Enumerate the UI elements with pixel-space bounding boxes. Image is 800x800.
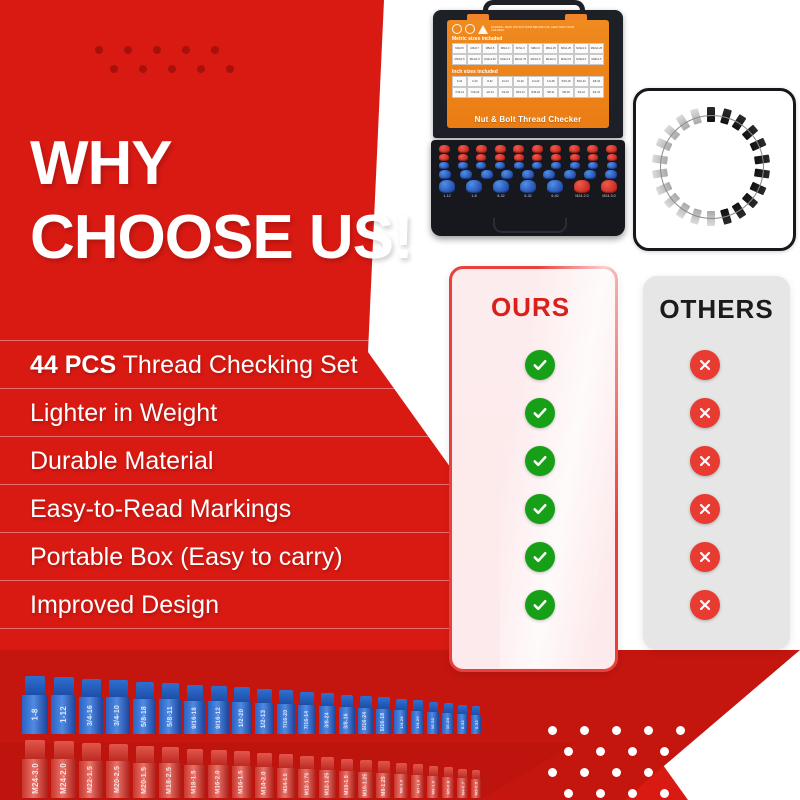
gauge-thread-cap <box>396 763 407 774</box>
gauge-body: 9/16-12 <box>208 701 229 734</box>
thread-gauge-pin <box>458 162 468 169</box>
gauge-body: 5/8-11 <box>159 699 181 734</box>
size-table-cell: 9/16-18 <box>528 87 543 98</box>
gauge-size-label: 5/8-11 <box>166 706 173 727</box>
size-table-row: M3x0.5M4x0.7M5x0.8M6x1.0M7x1.0M8x1.0M8x1… <box>452 43 604 54</box>
gauge-size-label: M7-1.0 <box>415 780 420 794</box>
gauge-size-label: M14-2.0 <box>262 771 268 794</box>
gauge-item: M18-1.5 <box>184 749 205 798</box>
gauge-item: 1/2-13 <box>255 689 274 734</box>
gauge-size-label: M16-2.0 <box>216 770 222 793</box>
decorative-dot <box>153 46 161 54</box>
gauge-body: 7/16-20 <box>277 704 295 734</box>
case-label: WARNING: READ INSTRUCTIONS BEFORE USE. K… <box>447 20 609 128</box>
feature-label: Lighter in Weight <box>0 399 460 427</box>
gauge-body: 3/8-16 <box>339 707 355 734</box>
gauge-body: M10-1.5 <box>339 771 355 798</box>
thread-gauge-pin <box>532 162 542 169</box>
size-table-cell: M12x1.75 <box>513 54 528 65</box>
gauge-thread-cap <box>321 757 334 770</box>
gauge-body: M20-2.5 <box>106 761 130 798</box>
gauge-body: 1-8 <box>22 695 48 734</box>
size-table-cell: 6-32 <box>452 76 467 87</box>
gauge-item: M16-1.5 <box>232 751 252 798</box>
thread-gauge-pin <box>607 154 617 161</box>
size-table-cell: 3/4-10 <box>574 87 589 98</box>
gauge-size-label: 1/2-20 <box>239 709 245 727</box>
gauge-lineup-strip: 1-81-123/4-163/4-105/8-185/8-119/16-189/… <box>0 660 800 800</box>
gauge-size-label: 7/16-14 <box>304 710 310 728</box>
thread-gauge-pin <box>458 145 469 153</box>
gauge-body: 10-24 <box>442 713 454 734</box>
gauge-thread-cap <box>458 705 467 714</box>
size-table-cell: M8x1.25 <box>543 43 558 54</box>
gauge-thread-cap <box>187 749 203 765</box>
gauge-size-label: M8-1.25 <box>381 776 387 796</box>
gauge-size-label: 7/16-20 <box>283 710 289 728</box>
size-table-cell: 5/16-24 <box>574 76 589 87</box>
gauge-thread-cap <box>162 683 179 699</box>
gauge-item: 5/16-24 <box>358 696 373 734</box>
thread-gauge-pin <box>532 145 543 153</box>
gauge-body: 9/16-18 <box>184 701 205 734</box>
headline-line-2: CHOOSE US! <box>30 207 460 269</box>
gauge-body: 7/16-14 <box>298 705 316 734</box>
gauge-size-label: 10-24 <box>445 718 450 729</box>
size-table-cell: 5/16-18 <box>558 76 573 87</box>
gauge-thread-cap <box>429 702 438 712</box>
check-circle-icon <box>525 494 555 524</box>
thread-gauge-pin <box>587 145 598 153</box>
size-table-cell: 5/8-11 <box>543 87 558 98</box>
size-table-cell: 9/16-12 <box>513 87 528 98</box>
gauge-size-label: 5/16-24 <box>363 712 369 730</box>
gauge-size-label: 1/2-13 <box>262 709 268 727</box>
gauge-pin-label: 6-40 <box>547 194 563 198</box>
gauge-tray-row <box>439 170 617 179</box>
gauge-thread-cap <box>257 753 272 767</box>
thread-gauge-pin <box>513 145 524 153</box>
gauge-size-label: M20-2.5 <box>115 766 122 793</box>
ours-cell <box>480 494 600 524</box>
gauge-item: M7-1.0 <box>411 764 424 798</box>
gauge-size-label: M3-0.5 <box>474 782 479 796</box>
gauge-thread-cap <box>458 769 467 778</box>
thread-gauge-pin <box>476 162 486 169</box>
others-cell <box>640 446 770 476</box>
gauge-item: M16-2.0 <box>208 750 229 798</box>
check-circle-icon <box>525 542 555 572</box>
others-column-header: OTHERS <box>643 294 790 325</box>
size-table-row: 6-326-408-3210-2410-321/4-201/4-285/16-1… <box>452 76 604 87</box>
gauge-item: M10-1.5 <box>339 759 355 798</box>
thread-gauge-pin <box>514 162 524 169</box>
feature-label: Easy-to-Read Markings <box>0 495 460 523</box>
ours-cell <box>480 542 600 572</box>
thread-gauge-pin: 6-32 <box>520 180 536 198</box>
decorative-dot <box>110 65 118 73</box>
thread-gauge-pin: 6-40 <box>547 180 563 198</box>
metric-table-title: Metric sizes included <box>452 36 502 42</box>
gauge-body: M20-1.5 <box>133 763 156 798</box>
gauge-body: M14-2.0 <box>255 767 274 798</box>
ours-column-header: OURS <box>449 292 612 323</box>
gauge-thread-cap <box>444 767 453 777</box>
gauge-thread-cap <box>360 696 372 708</box>
ours-cell <box>480 590 600 620</box>
gauge-thread-cap <box>396 699 407 710</box>
gauge-tray-row <box>439 162 617 169</box>
inch-sizes-table: 6-326-408-3210-2410-321/4-201/4-285/16-1… <box>452 76 604 98</box>
gauge-body: M12-1.75 <box>298 769 316 798</box>
gauge-item: M22-1.5 <box>79 743 103 798</box>
thread-gauge-pin <box>532 154 542 161</box>
gauge-size-label: M24-3.0 <box>31 763 40 794</box>
gauge-size-label: M18-2.5 <box>167 767 174 794</box>
size-table-cell: M10x1.25 <box>589 43 604 54</box>
thread-gauge-pin <box>495 145 506 153</box>
gauge-item: 6-32 <box>471 706 481 734</box>
thread-gauge-pin <box>550 145 561 153</box>
gauge-thread-cap <box>109 680 128 697</box>
gauge-item: M12-1.25 <box>319 757 336 798</box>
gauge-body: M16-1.5 <box>232 766 252 798</box>
gauge-body: 8-32 <box>457 714 468 734</box>
thread-gauge-pin <box>564 170 576 179</box>
gauge-thread-cap <box>300 756 314 769</box>
gauge-item: M10-1.25 <box>358 760 373 798</box>
gauge-body: M24-2.0 <box>51 759 76 798</box>
thread-gauge-pin <box>551 154 561 161</box>
gauge-size-label: M10-1.5 <box>344 775 350 795</box>
gauge-thread-cap <box>234 687 250 702</box>
gauge-item: M6-1.0 <box>427 766 439 798</box>
gauge-body: 1-12 <box>51 695 76 734</box>
gauge-item: M20-2.5 <box>106 744 130 798</box>
gauge-thread-cap <box>211 750 227 765</box>
gauge-tray-row <box>439 154 617 161</box>
size-table-row: 7/16-147/16-201/2-131/2-209/16-129/16-18… <box>452 87 604 98</box>
thread-gauge-pin <box>458 154 468 161</box>
gauge-thread-cap <box>54 741 74 759</box>
case-lid: WARNING: READ INSTRUCTIONS BEFORE USE. K… <box>433 10 623 138</box>
gauge-body: 3/4-16 <box>79 697 103 734</box>
gauge-item: 1-12 <box>51 677 76 734</box>
gauge-size-label: 3/8-24 <box>324 712 330 727</box>
gauge-thread-cap <box>429 766 438 776</box>
size-table-cell: 1/4-20 <box>528 76 543 87</box>
cross-circle-icon <box>690 542 720 572</box>
gauge-body: M14-1.5 <box>277 768 295 798</box>
gauge-item: 8-32 <box>457 705 468 734</box>
thread-gauge-pin <box>514 154 524 161</box>
gauge-pin-label: 6-32 <box>520 194 536 198</box>
gauge-thread-cap <box>472 770 480 779</box>
gauge-thread-cap <box>378 761 390 773</box>
cross-circle-icon <box>690 494 720 524</box>
size-table-cell: M10x1.0 <box>574 43 589 54</box>
gauge-body: 5/16-24 <box>358 708 373 734</box>
gauge-item: M14-2.0 <box>255 753 274 798</box>
gauge-size-label: M18-1.5 <box>192 770 198 793</box>
gauge-size-label: M6-1.0 <box>431 780 436 794</box>
gauge-size-label: M20-1.5 <box>141 767 148 794</box>
thread-gauge-pin <box>481 170 493 179</box>
size-table-cell: M16x1.5 <box>558 54 573 65</box>
decorative-dot <box>139 65 147 73</box>
decorative-dot <box>182 46 190 54</box>
decorative-dot <box>124 46 132 54</box>
thread-gauge-pin <box>476 145 487 153</box>
size-table-cell: M5x0.8 <box>482 43 497 54</box>
size-table-cell: M8x1.0 <box>528 43 543 54</box>
thread-gauge-pin <box>439 145 450 153</box>
product-case-photo: WARNING: READ INSTRUCTIONS BEFORE USE. K… <box>425 2 632 242</box>
size-table-cell: M16x2.0 <box>574 54 589 65</box>
gauge-thread-cap <box>136 682 154 699</box>
gauge-size-label: M10-1.25 <box>363 774 369 797</box>
gauge-item: M4-0.7 <box>457 769 468 798</box>
size-table-cell: M7x1.0 <box>513 43 528 54</box>
gauge-body: M18-2.5 <box>159 763 181 798</box>
gauge-tray-row <box>439 145 617 153</box>
gauge-body: 1/4-20 <box>411 711 424 734</box>
thread-gauge-pin: 8-32 <box>493 180 509 198</box>
others-cell <box>640 542 770 572</box>
gauge-body: M8-1.25 <box>376 773 391 798</box>
gauge-size-label: 3/4-16 <box>88 705 95 726</box>
gauge-body: 1/4-28 <box>394 710 408 734</box>
gauge-body: 3/4-10 <box>106 697 130 734</box>
case-brand-text: Nut & Bolt Thread Checker <box>447 115 609 124</box>
size-table-cell: M4x0.7 <box>467 43 482 54</box>
gauge-item: 5/16-18 <box>376 697 391 734</box>
gauge-item: M8-1.0 <box>394 763 408 798</box>
size-table-row: M10x1.5M11x1.5M12x1.25M12x1.5M12x1.75M14… <box>452 54 604 65</box>
red-gauge-row: M24-3.0M24-2.0M22-1.5M20-2.5M20-1.5M18-2… <box>22 740 484 798</box>
gauge-pin-label: M24-3.0 <box>601 194 617 198</box>
check-circle-icon <box>525 350 555 380</box>
metric-sizes-table: M3x0.5M4x0.7M5x0.8M6x1.0M7x1.0M8x1.0M8x1… <box>452 43 604 65</box>
gauge-thread-cap <box>82 679 101 697</box>
check-circle-icon <box>525 398 555 428</box>
thread-gauge-pin <box>588 154 598 161</box>
infographic-canvas: WHY CHOOSE US! OURS OTHERS 44 PCS Thread… <box>0 0 800 800</box>
gauge-thread-cap <box>109 744 128 761</box>
size-table-cell: 3/4-16 <box>589 87 604 98</box>
thread-gauge-pin: 1-12 <box>439 180 455 198</box>
size-table-cell: M12x1.5 <box>498 54 513 65</box>
ours-cell <box>480 398 600 428</box>
gauge-size-label: 1-8 <box>30 708 39 720</box>
thread-gauge-pin <box>439 170 451 179</box>
thread-gauge-pin <box>543 170 555 179</box>
gauge-item: M5-0.8 <box>442 767 454 798</box>
gauge-body: 3/8-24 <box>319 706 336 734</box>
gauge-body: M16-2.0 <box>208 765 229 798</box>
size-table-cell: M12x1.25 <box>482 54 497 65</box>
thread-gauge-pin <box>495 162 505 169</box>
gauge-size-label: 9/16-18 <box>192 707 198 729</box>
headline-line-1: WHY <box>30 129 172 198</box>
gauge-size-label: 1/4-20 <box>415 716 420 729</box>
thread-gauge-pin <box>588 162 598 169</box>
thread-gauge-pin: 1-8 <box>466 180 482 198</box>
gauge-item: M8-1.25 <box>376 761 391 798</box>
decorative-dot <box>95 46 103 54</box>
gauge-size-label: 3/8-16 <box>344 713 350 728</box>
gauge-body: M10-1.25 <box>358 772 373 798</box>
gauge-thread-cap <box>211 686 227 701</box>
size-table-cell: M9x1.25 <box>558 43 573 54</box>
size-table-cell: M3x0.5 <box>452 43 467 54</box>
feature-label: Portable Box (Easy to carry) <box>0 543 460 571</box>
decorative-dot <box>197 65 205 73</box>
size-table-cell: M14x1.5 <box>528 54 543 65</box>
blue-gauge-row: 1-81-123/4-163/4-105/8-185/8-119/16-189/… <box>22 676 484 734</box>
label-warning-text: WARNING: READ INSTRUCTIONS BEFORE USE. K… <box>491 26 586 32</box>
gauge-item: M12-1.75 <box>298 756 316 798</box>
gauge-size-label: M4-0.7 <box>460 781 465 795</box>
gauge-size-label: M12-1.25 <box>325 773 331 796</box>
gauge-pin-label: M24-2.0 <box>574 194 590 198</box>
gauge-body: M24-3.0 <box>22 759 48 798</box>
size-table-cell: 1/2-20 <box>498 87 513 98</box>
gauge-pin-label: 8-32 <box>493 194 509 198</box>
size-table-cell: 6-40 <box>467 76 482 87</box>
gauge-thread-cap <box>444 703 453 713</box>
gauge-item: M24-2.0 <box>51 741 76 798</box>
gauge-body: M6-1.0 <box>427 776 439 798</box>
thread-gauge-pin <box>607 162 617 169</box>
size-table-cell: 7/16-20 <box>467 87 482 98</box>
decorative-dot <box>168 65 176 73</box>
thread-gauge-pin <box>522 170 534 179</box>
gauge-item: 3/8-16 <box>339 695 355 734</box>
gauge-body: 5/16-18 <box>376 709 391 734</box>
gauge-body: M12-1.25 <box>319 770 336 798</box>
gauge-item: 10-24 <box>442 703 454 734</box>
gauge-item: M14-1.5 <box>277 754 295 798</box>
gauge-item: 7/16-20 <box>277 690 295 734</box>
gauge-thread-cap <box>234 751 250 766</box>
gauge-size-label: M22-1.5 <box>88 766 95 793</box>
gauge-item: 9/16-12 <box>208 686 229 734</box>
gauge-size-label: 3/4-10 <box>115 705 122 726</box>
gauge-body: 1/2-13 <box>255 703 274 734</box>
feature-label: 44 PCS Thread Checking Set <box>0 351 460 379</box>
size-table-cell: M10x1.5 <box>452 54 467 65</box>
thread-gauge-pin <box>570 154 580 161</box>
ours-cell <box>480 350 600 380</box>
gauge-size-label: M8-1.0 <box>399 779 404 793</box>
gauge-thread-cap <box>472 706 480 715</box>
case-base: 1-121-88-326-326-40M24-2.0M24-3.0 <box>431 140 625 236</box>
gauge-tray: 1-121-88-326-326-40M24-2.0M24-3.0 <box>439 145 617 199</box>
gauge-size-label: 5/8-18 <box>141 706 148 727</box>
gauge-body: 6-32 <box>471 715 481 734</box>
gauge-size-label: M24-2.0 <box>59 763 68 794</box>
gauge-thread-cap <box>341 759 353 771</box>
thread-gauge-pin <box>439 162 449 169</box>
others-cell <box>640 494 770 524</box>
gauge-thread-cap <box>321 693 334 706</box>
size-table-cell: 1/2-13 <box>482 87 497 98</box>
cross-circle-icon <box>690 350 720 380</box>
gauge-thread-cap <box>413 764 423 775</box>
gauge-thread-cap <box>300 692 314 705</box>
thread-gauge-pin: M24-2.0 <box>574 180 590 198</box>
gauge-item: M24-3.0 <box>22 740 48 798</box>
gauge-body: M22-1.5 <box>79 761 103 798</box>
cross-circle-icon <box>690 590 720 620</box>
gauge-item: M20-1.5 <box>133 746 156 798</box>
warning-triangle-icon <box>478 25 488 34</box>
thread-gauge-pin <box>501 170 513 179</box>
size-table-cell: 7/16-14 <box>452 87 467 98</box>
ring-wire-loop <box>660 115 764 219</box>
others-cell <box>640 350 770 380</box>
thread-gauge-pin <box>476 154 486 161</box>
size-table-cell: 1/4-28 <box>543 76 558 87</box>
gauge-thread-cap <box>82 743 101 761</box>
size-table-cell: 3/8-16 <box>589 76 604 87</box>
check-circle-icon <box>525 446 555 476</box>
gauge-thread-cap <box>25 740 45 759</box>
thread-gauge-pin <box>460 170 472 179</box>
gauge-size-label: 1-12 <box>59 706 68 723</box>
gauge-body: M8-1.0 <box>394 774 408 798</box>
gauge-thread-cap <box>136 746 154 763</box>
thread-gauge-pin <box>605 170 617 179</box>
gauge-item: 3/8-24 <box>319 693 336 734</box>
thread-gauge-pin <box>584 170 596 179</box>
decorative-dot <box>226 65 234 73</box>
thread-gauge-pin: M24-3.0 <box>601 180 617 198</box>
gauge-thread-cap <box>360 760 372 772</box>
gauge-thread-cap <box>279 690 293 704</box>
feature-label: Durable Material <box>0 447 460 475</box>
gauge-thread-cap <box>279 754 293 768</box>
gauge-item: 10-32 <box>427 702 439 734</box>
gauge-item: 1/4-20 <box>411 700 424 734</box>
size-table-cell: M14x2.0 <box>543 54 558 65</box>
size-table-cell: 10-32 <box>513 76 528 87</box>
gauge-body: M18-1.5 <box>184 765 205 798</box>
size-table-cell: M6x1.0 <box>498 43 513 54</box>
gauge-thread-cap <box>413 700 423 711</box>
gauge-item: 1-8 <box>22 676 48 734</box>
gauge-thread-cap <box>54 677 74 695</box>
size-table-cell: M18x1.5 <box>589 54 604 65</box>
gauge-size-label: 10-32 <box>430 717 435 728</box>
thread-gauge-pin <box>569 145 580 153</box>
thread-gauge-pin <box>570 162 580 169</box>
ours-cell <box>480 446 600 476</box>
gauge-body: 5/8-18 <box>133 699 156 734</box>
gauge-thread-cap <box>187 685 203 701</box>
cross-circle-icon <box>690 446 720 476</box>
thread-gauge-pin <box>495 154 505 161</box>
gauge-body: M3-0.5 <box>471 779 481 798</box>
gauge-item: 5/8-11 <box>159 683 181 734</box>
gauge-size-label: M5-0.8 <box>446 781 451 795</box>
gauge-item: 5/8-18 <box>133 682 156 734</box>
gauge-size-label: 9/16-12 <box>216 707 222 729</box>
gauge-body: M7-1.0 <box>411 775 424 798</box>
gauge-size-label: 1/4-28 <box>398 716 403 729</box>
gauge-thread-cap <box>341 695 353 707</box>
